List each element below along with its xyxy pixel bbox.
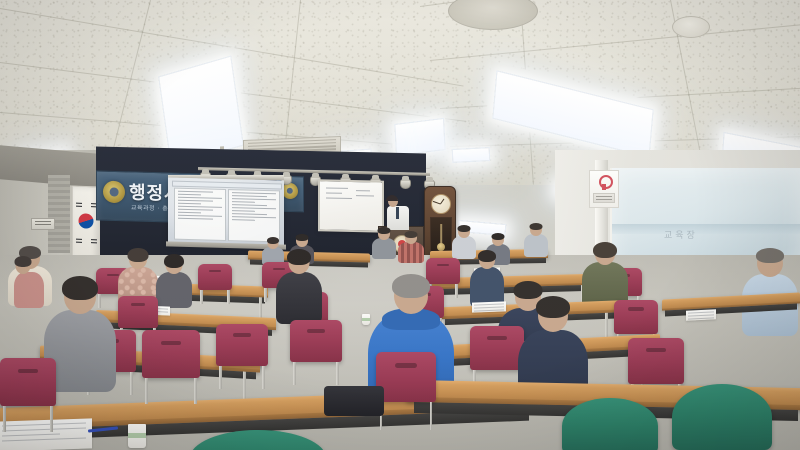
chair-row4-5 <box>628 338 684 384</box>
attendee-row1-f <box>524 224 548 256</box>
seminar-room-photo: 행정사 교육과정 · 총회 <box>0 0 800 450</box>
gold-rosette-emblem-icon <box>103 181 125 204</box>
attendee-olive-coat <box>582 244 628 306</box>
no-smoking-sign <box>589 170 619 208</box>
attendee-dark-hair-row2 <box>156 256 192 306</box>
chair-foreground-burgundy-3 <box>0 358 56 406</box>
attendee-black-jacket <box>276 252 322 322</box>
handout-right-edge <box>686 309 716 321</box>
paper-cup-foreground <box>128 424 146 448</box>
attendee-row1-c <box>372 228 396 258</box>
led-panel-light <box>452 147 491 163</box>
gold-rosette-emblem-icon <box>282 183 298 199</box>
chair-row4-2 <box>216 324 268 366</box>
slide-document-left <box>174 188 226 241</box>
chair-row4-3 <box>290 320 342 362</box>
whiteboard <box>318 179 384 232</box>
track-spotlight-icon <box>400 179 411 189</box>
no-smoking-icon <box>596 175 612 191</box>
projection-screen <box>168 177 284 246</box>
attendee-row1-plaid <box>398 232 424 262</box>
smoke-detector-icon <box>672 16 710 38</box>
chair-row4-4 <box>470 326 524 370</box>
chair-row3-1 <box>118 296 158 328</box>
chair-foreground-green-2 <box>562 398 658 450</box>
chair-foreground-green-3 <box>672 384 772 450</box>
wall-duct-panel <box>48 175 70 253</box>
chair-foreground-burgundy-2 <box>376 352 436 402</box>
bag-foreground <box>324 386 384 416</box>
chair-row2-2 <box>198 264 232 290</box>
chair-row3-4 <box>614 300 658 334</box>
chair-foreground-burgundy-1 <box>142 330 200 378</box>
slide-document-right <box>228 189 280 242</box>
taeguk-symbol <box>79 214 94 230</box>
attendee-pink-top <box>14 258 44 306</box>
led-panel-light <box>394 118 445 156</box>
presenter <box>385 196 411 230</box>
room-plate-sign <box>31 218 55 230</box>
clock-face <box>431 194 451 214</box>
glass-partition-text: 교육장 <box>664 228 698 241</box>
